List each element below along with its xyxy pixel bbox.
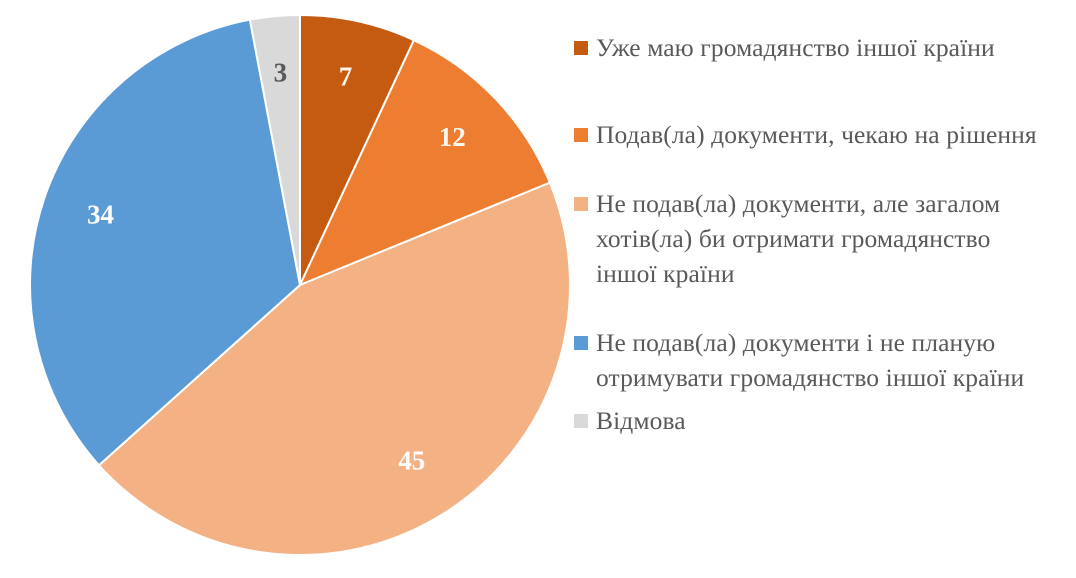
pie-chart-plot-area: 71245343 bbox=[0, 0, 580, 578]
chart-legend: Уже маю громадянство іншої країниПодав(л… bbox=[574, 30, 1074, 550]
pie-slice-value-label: 7 bbox=[339, 62, 353, 92]
legend-item[interactable]: Подав(ла) документи, чекаю на рішення bbox=[574, 117, 1074, 152]
pie-slice-value-label: 45 bbox=[398, 446, 425, 476]
legend-item-label: Не подав(ла) документи, але загалом хоті… bbox=[596, 186, 1048, 291]
pie-svg: 71245343 bbox=[0, 0, 580, 578]
pie-slice-value-label: 3 bbox=[274, 58, 288, 88]
legend-color-swatch-icon bbox=[574, 128, 588, 142]
legend-color-swatch-icon bbox=[574, 197, 588, 211]
legend-item[interactable]: Уже маю громадянство іншої країни bbox=[574, 30, 1074, 65]
legend-item[interactable]: Відмова bbox=[574, 403, 1074, 438]
legend-item-label: Не подав(ла) документи і не планую отрим… bbox=[596, 325, 1048, 395]
legend-item-label: Подав(ла) документи, чекаю на рішення bbox=[596, 117, 1037, 152]
legend-color-swatch-icon bbox=[574, 41, 588, 55]
pie-slice-value-label: 34 bbox=[87, 200, 114, 230]
legend-item[interactable]: Не подав(ла) документи, але загалом хоті… bbox=[574, 186, 1074, 291]
legend-item[interactable]: Не подав(ла) документи і не планую отрим… bbox=[574, 325, 1074, 395]
legend-color-swatch-icon bbox=[574, 414, 588, 428]
legend-item-label: Уже маю громадянство іншої країни bbox=[596, 30, 995, 65]
pie-slice-value-label: 12 bbox=[439, 122, 466, 152]
legend-item-label: Відмова bbox=[596, 403, 686, 438]
pie-chart-figure: 71245343 Уже маю громадянство іншої краї… bbox=[0, 0, 1076, 578]
legend-color-swatch-icon bbox=[574, 336, 588, 350]
